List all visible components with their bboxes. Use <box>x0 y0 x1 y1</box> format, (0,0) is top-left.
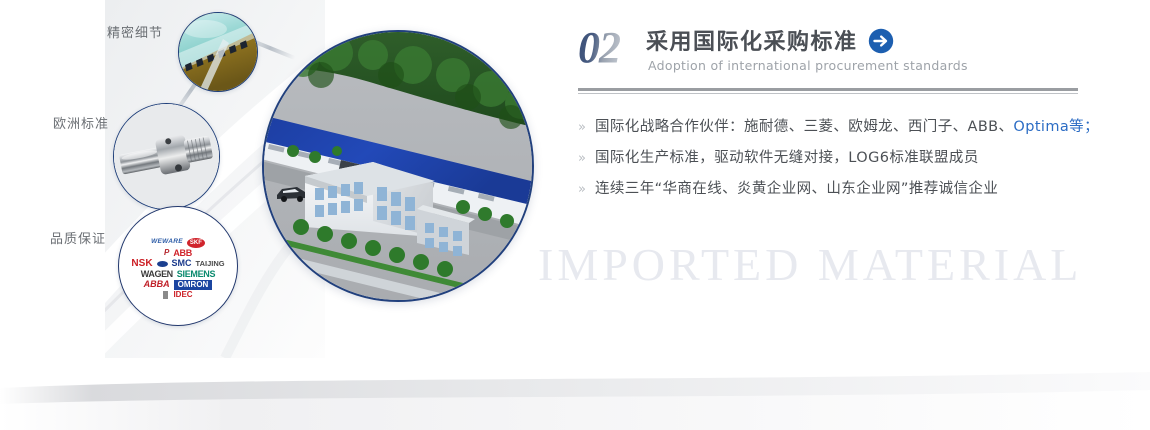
list-item: » 国际化生产标准，驱动软件无缝对接，LOG6标准联盟成员 <box>578 146 1098 177</box>
brand-row-1: WEWARE SKF <box>151 238 205 248</box>
brand-weware: WEWARE <box>151 239 183 246</box>
ball-screw-photo <box>113 103 220 210</box>
label-precision-detail: 精密细节 <box>107 22 163 41</box>
brand-p: P <box>164 249 169 257</box>
list-item: » 连续三年“华商在线、炎黄企业网、山东企业网”推荐诚信企业 <box>578 177 1098 208</box>
brand-row-5: ABBA OMRON <box>144 280 213 290</box>
factory-building-photo <box>262 30 534 302</box>
bullet-text-accent: Optima等； <box>1013 119 1099 135</box>
bullet-marker-icon: » <box>578 151 595 166</box>
brand-logos-collage: WEWARE SKF P ABB NSK SMC TAIJING WAGEN S… <box>118 206 238 326</box>
divider-thin-line <box>578 93 1078 94</box>
brand-wagen: WAGEN <box>141 270 173 279</box>
smc-dot-icon <box>157 261 168 267</box>
brand-siemens: SIEMENS <box>177 270 215 279</box>
bullet-text: 连续三年“华商在线、炎黄企业网、山东企业网”推荐诚信企业 <box>595 177 998 198</box>
bullet-marker-icon: » <box>578 182 595 197</box>
brand-idec: IDEC <box>173 291 192 299</box>
header-divider <box>578 88 1078 94</box>
section-number: 02 <box>578 24 620 72</box>
bullet-marker-icon: » <box>578 120 595 135</box>
brand-omron: OMRON <box>174 280 213 290</box>
brand-row-2: P ABB <box>164 249 192 258</box>
brand-taijing: TAIJING <box>196 260 225 268</box>
bullet-text-main: 连续三年“华商在线、炎黄企业网、山东企业网”推荐诚信企业 <box>595 181 998 197</box>
feature-bullet-list: » 国际化战略合作伙伴：施耐德、三菱、欧姆龙、西门子、ABB、Optima等； … <box>578 115 1098 208</box>
list-item: » 国际化战略合作伙伴：施耐德、三菱、欧姆龙、西门子、ABB、Optima等； <box>578 115 1098 146</box>
watermark-text: IMPORTED MATERIAL <box>538 238 1082 291</box>
bullet-text: 国际化战略合作伙伴：施耐德、三菱、欧姆龙、西门子、ABB、Optima等； <box>595 115 1099 136</box>
brand-row-6: IDEC <box>163 291 192 299</box>
bullet-text: 国际化生产标准，驱动软件无缝对接，LOG6标准联盟成员 <box>595 146 979 167</box>
section-header: 02 采用国际化采购标准 Adoption of international p… <box>578 24 1098 80</box>
brand-row-4: WAGEN SIEMENS <box>141 270 215 279</box>
brand-row-3: NSK SMC TAIJING <box>131 259 224 269</box>
brand-abb: ABB <box>173 249 192 258</box>
brand-nsk: NSK <box>131 259 152 269</box>
idec-square-icon <box>163 291 168 299</box>
brand-skf: SKF <box>187 238 205 248</box>
gear-detail-photo <box>178 12 258 92</box>
brand-abba: ABBA <box>144 280 170 289</box>
divider-thick-line <box>578 88 1078 91</box>
page-subtitle: Adoption of international procurement st… <box>648 58 968 73</box>
page-title: 采用国际化采购标准 <box>646 24 858 56</box>
label-quality-assurance: 品质保证 <box>50 228 106 247</box>
bullet-text-main: 国际化战略合作伙伴：施耐德、三菱、欧姆龙、西门子、ABB、 <box>595 119 1013 135</box>
arrow-right-circle-icon[interactable] <box>868 28 894 54</box>
brand-smc: SMC <box>172 259 192 268</box>
label-european-standard: 欧洲标准 <box>53 113 109 132</box>
content-column: 02 采用国际化采购标准 Adoption of international p… <box>578 0 1108 430</box>
bullet-text-main: 国际化生产标准，驱动软件无缝对接，LOG6标准联盟成员 <box>595 150 979 166</box>
promo-banner: 精密细节 欧洲标准 品质保证 <box>0 0 1150 430</box>
